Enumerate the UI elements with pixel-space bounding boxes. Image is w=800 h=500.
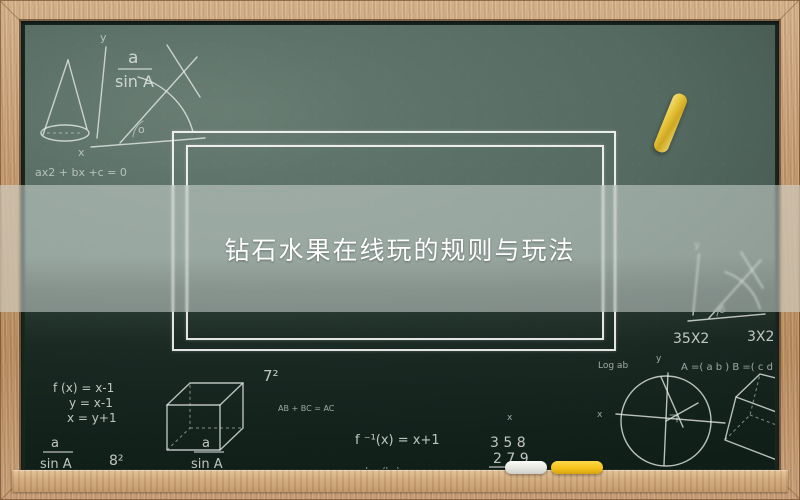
page-title: 钻石水果在线玩的规则与玩法 — [0, 185, 800, 312]
screenshot-root: a sin A y x o ax2 + bx +c = 0 y — [0, 0, 800, 500]
chalk-stick-yellow-tray — [551, 461, 603, 474]
chalk-stick-white-tray — [505, 461, 547, 474]
chalk-ledge — [12, 470, 788, 492]
ledge-wood-grain — [12, 470, 788, 492]
